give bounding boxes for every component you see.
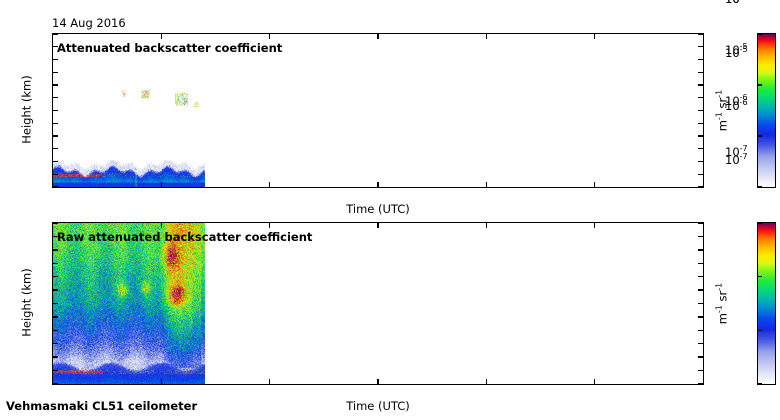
- y-tick-mark: [53, 135, 58, 136]
- y-tick-mark: [53, 174, 58, 175]
- x-tick-mark-bottom: [377, 379, 378, 384]
- ceilometer-figure: 14 Aug 2016 Attenuated backscatter coeff…: [0, 0, 780, 420]
- colorbar-tick-mark: [758, 33, 762, 34]
- colorbar-tick-mark: [758, 383, 762, 384]
- y-tick-mark: [53, 303, 58, 304]
- y-tick-mark-right: [698, 174, 703, 175]
- y-tick-mark-right: [698, 148, 703, 149]
- colorbar-top[interactable]: [757, 33, 776, 188]
- y-tick-mark: [53, 276, 58, 277]
- x-axis-title-bottom: Time (UTC): [346, 400, 410, 413]
- x-tick-mark-top: [486, 223, 487, 228]
- colorbar-bottom[interactable]: [757, 222, 776, 385]
- y-tick-mark: [53, 370, 58, 371]
- y-tick-mark: [53, 148, 58, 149]
- y-tick-mark-right: [698, 123, 703, 124]
- y-tick-mark: [53, 161, 58, 162]
- y-tick-mark-right: [698, 222, 703, 223]
- y-tick-mark-right: [698, 303, 703, 304]
- y-tick-mark-right: [698, 316, 703, 317]
- y-tick-mark: [53, 110, 58, 111]
- y-tick-mark-right: [698, 330, 703, 331]
- y-tick-mark: [53, 343, 58, 344]
- y-tick-mark-right: [698, 289, 703, 290]
- y-tick-mark: [53, 263, 58, 264]
- y-tick-mark-right: [698, 356, 703, 357]
- x-tick-mark-top: [377, 34, 378, 39]
- panel-title-bottom: Raw attenuated backscatter coefficient: [57, 230, 312, 244]
- y-tick-mark: [53, 123, 58, 124]
- y-tick-mark: [53, 289, 58, 290]
- heatmap-data-area-top: [53, 34, 205, 187]
- x-tick-mark-top: [377, 223, 378, 228]
- y-tick-mark: [53, 84, 58, 85]
- y-tick-mark-right: [698, 343, 703, 344]
- y-tick-mark: [53, 97, 58, 98]
- colorbar-tick-mark: [758, 135, 762, 136]
- x-tick-mark-top: [486, 34, 487, 39]
- x-tick-mark-top: [594, 34, 595, 39]
- y-tick-mark-right: [698, 59, 703, 60]
- y-tick-mark: [53, 33, 58, 34]
- x-tick-mark-top: [161, 223, 162, 228]
- y-tick-mark: [53, 316, 58, 317]
- y-tick-mark: [53, 59, 58, 60]
- colorbar-tick-mark: [758, 222, 762, 223]
- y-tick-mark-right: [698, 135, 703, 136]
- y-tick-mark: [53, 186, 58, 187]
- y-tick-mark-right: [698, 161, 703, 162]
- y-tick-mark-right: [698, 383, 703, 384]
- x-tick-mark-top: [269, 34, 270, 39]
- colorbar-tick-mark: [758, 330, 762, 331]
- y-tick-mark-right: [698, 72, 703, 73]
- x-axis-title-top: Time (UTC): [346, 203, 410, 216]
- y-tick-mark-right: [698, 186, 703, 187]
- colorbar-tick-mark: [758, 276, 762, 277]
- plot-panel-attenuated-backscatter[interactable]: Attenuated backscatter coefficient 01234…: [52, 33, 704, 188]
- colorbar-tick-label: 10-6: [725, 99, 748, 113]
- y-tick-mark: [53, 330, 58, 331]
- date-label: 14 Aug 2016: [52, 17, 126, 30]
- y-tick-mark-right: [698, 249, 703, 250]
- panel-title-top: Attenuated backscatter coefficient: [57, 41, 282, 55]
- y-tick-mark: [53, 72, 58, 73]
- y-tick-mark: [53, 356, 58, 357]
- colorbar-tick-label: 10-5: [725, 46, 748, 60]
- station-footer-label: Vehmasmaki CL51 ceilometer: [6, 400, 197, 413]
- colorbar-tick-label: 10-4: [725, 0, 748, 6]
- colorbar-tick-label: 10-7: [725, 153, 748, 167]
- y-tick-mark-right: [698, 84, 703, 85]
- y-tick-mark-right: [698, 236, 703, 237]
- y-axis-title-bottom: Height (km): [21, 263, 34, 343]
- colorbar-tick-mark: [758, 84, 762, 85]
- x-tick-mark-bottom: [486, 182, 487, 187]
- x-tick-mark-top: [269, 223, 270, 228]
- y-tick-mark-right: [698, 97, 703, 98]
- heatmap-data-area-bottom: [53, 223, 205, 384]
- y-tick-mark-right: [698, 370, 703, 371]
- x-tick-mark-bottom: [486, 379, 487, 384]
- y-tick-mark-right: [698, 33, 703, 34]
- y-tick-mark-right: [698, 110, 703, 111]
- colorbar-tick-mark: [758, 186, 762, 187]
- x-tick-mark-bottom: [594, 379, 595, 384]
- x-tick-mark-top: [594, 223, 595, 228]
- y-tick-mark-right: [698, 276, 703, 277]
- x-tick-mark-top: [161, 34, 162, 39]
- x-tick-mark-bottom: [161, 379, 162, 384]
- plot-panel-raw-attenuated-backscatter[interactable]: Raw attenuated backscatter coefficient 0…: [52, 222, 704, 385]
- y-tick-mark-right: [698, 46, 703, 47]
- y-tick-mark: [53, 222, 58, 223]
- x-tick-mark-bottom: [161, 182, 162, 187]
- colorbar-unit-bottom: m-1 sr-1: [717, 259, 730, 349]
- y-axis-title-top: Height (km): [21, 70, 34, 150]
- y-tick-mark-right: [698, 263, 703, 264]
- x-tick-mark-bottom: [269, 182, 270, 187]
- y-tick-mark: [53, 249, 58, 250]
- x-tick-mark-bottom: [269, 379, 270, 384]
- y-tick-mark: [53, 383, 58, 384]
- x-tick-mark-bottom: [377, 182, 378, 187]
- x-tick-mark-bottom: [594, 182, 595, 187]
